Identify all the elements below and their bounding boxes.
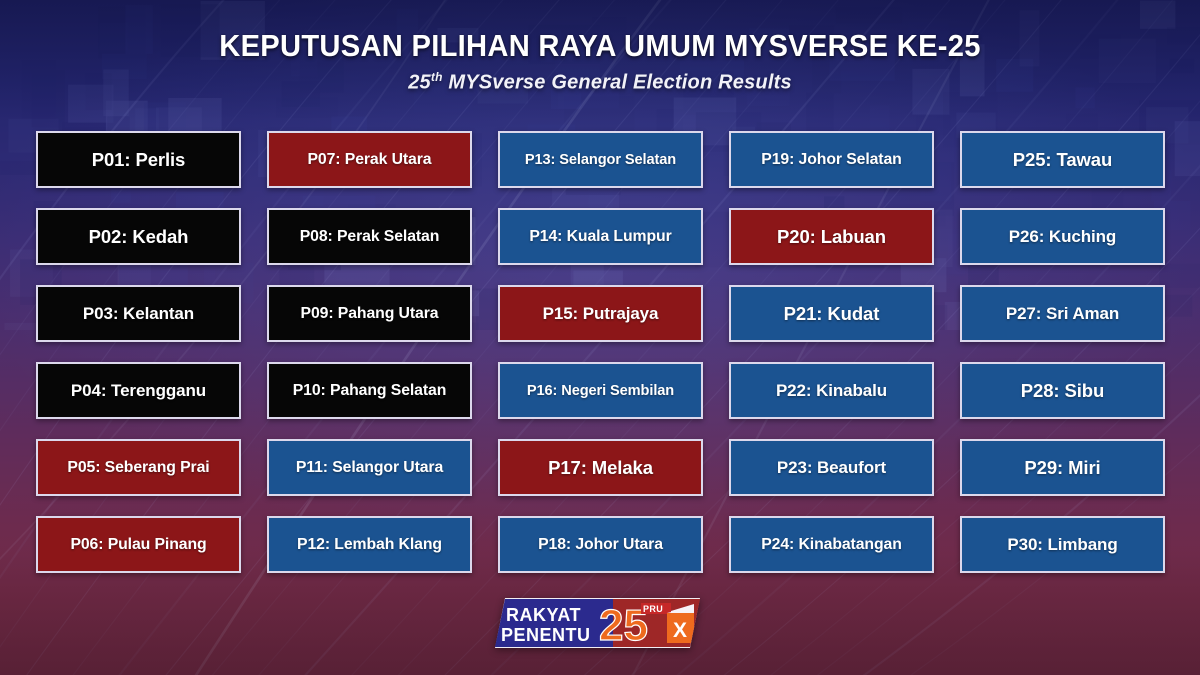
seat-box-p02[interactable]: P02: Kedah [36, 208, 241, 265]
seat-box-p29[interactable]: P29: Miri [960, 439, 1165, 496]
seat-box-p21[interactable]: P21: Kudat [729, 285, 934, 342]
logo-pru-badge-text: PRU [643, 604, 663, 614]
seat-label: P29: Miri [1018, 457, 1106, 479]
page-subtitle: 25th MYSverse General Election Results [0, 70, 1200, 95]
seat-label: P19: Johor Selatan [755, 151, 907, 169]
seat-box-p19[interactable]: P19: Johor Selatan [729, 131, 934, 188]
seat-label: P09: Pahang Utara [295, 305, 445, 323]
seat-label: P06: Pulau Pinang [64, 536, 212, 554]
seat-box-p25[interactable]: P25: Tawau [960, 131, 1165, 188]
seat-box-p13[interactable]: P13: Selangor Selatan [498, 131, 703, 188]
header: KEPUTUSAN PILIHAN RAYA UMUM MYSVERSE KE-… [0, 30, 1200, 94]
seat-label: P11: Selangor Utara [290, 459, 449, 477]
seat-box-p27[interactable]: P27: Sri Aman [960, 285, 1165, 342]
ballot-x-mark: X [673, 619, 687, 642]
seat-label: P21: Kudat [778, 303, 886, 325]
seat-label: P01: Perlis [86, 149, 192, 171]
seat-label: P22: Kinabalu [770, 381, 893, 401]
logo-line2: PENENTU [501, 625, 591, 645]
seat-box-p15[interactable]: P15: Putrajaya [498, 285, 703, 342]
seat-box-p20[interactable]: P20: Labuan [729, 208, 934, 265]
seat-box-p01[interactable]: P01: Perlis [36, 131, 241, 188]
seat-label: P03: Kelantan [77, 304, 200, 324]
seat-label: P26: Kuching [1003, 227, 1122, 247]
subtitle-text: MYSverse General Election Results [443, 71, 792, 93]
seat-results-grid: P01: PerlisP07: Perak UtaraP13: Selangor… [36, 131, 1166, 573]
seat-box-p16[interactable]: P16: Negeri Sembilan [498, 362, 703, 419]
seat-box-p12[interactable]: P12: Lembah Klang [267, 516, 472, 573]
logo-line1: RAKYAT [506, 605, 581, 625]
logo-25-outline: 25 [599, 601, 648, 649]
seat-label: P08: Perak Selatan [294, 228, 446, 246]
seat-box-p28[interactable]: P28: Sibu [960, 362, 1165, 419]
seat-label: P28: Sibu [1015, 380, 1110, 402]
seat-box-p30[interactable]: P30: Limbang [960, 516, 1165, 573]
subtitle-ordinal-suffix: th [431, 70, 443, 84]
seat-label: P23: Beaufort [771, 458, 892, 478]
seat-label: P18: Johor Utara [532, 536, 669, 554]
seat-box-p26[interactable]: P26: Kuching [960, 208, 1165, 265]
seat-box-p04[interactable]: P04: Terengganu [36, 362, 241, 419]
seat-box-p17[interactable]: P17: Melaka [498, 439, 703, 496]
seat-label: P13: Selangor Selatan [519, 152, 682, 168]
seat-box-p06[interactable]: P06: Pulau Pinang [36, 516, 241, 573]
seat-box-p14[interactable]: P14: Kuala Lumpur [498, 208, 703, 265]
page-title: KEPUTUSAN PILIHAN RAYA UMUM MYSVERSE KE-… [36, 30, 1164, 63]
seat-box-p11[interactable]: P11: Selangor Utara [267, 439, 472, 496]
pru25-logo: 25 25 RAKYAT PENENTU PRU X [495, 597, 700, 649]
seat-label: P20: Labuan [771, 226, 892, 248]
seat-box-p10[interactable]: P10: Pahang Selatan [267, 362, 472, 419]
seat-box-p08[interactable]: P08: Perak Selatan [267, 208, 472, 265]
seat-box-p03[interactable]: P03: Kelantan [36, 285, 241, 342]
seat-label: P17: Melaka [542, 457, 659, 479]
seat-label: P10: Pahang Selatan [287, 382, 453, 400]
seat-label: P12: Lembah Klang [291, 536, 448, 554]
seat-label: P16: Negeri Sembilan [521, 383, 680, 399]
seat-label: P27: Sri Aman [1000, 304, 1125, 324]
seat-label: P04: Terengganu [65, 381, 212, 401]
seat-box-p09[interactable]: P09: Pahang Utara [267, 285, 472, 342]
seat-box-p23[interactable]: P23: Beaufort [729, 439, 934, 496]
seat-box-p18[interactable]: P18: Johor Utara [498, 516, 703, 573]
seat-label: P15: Putrajaya [537, 304, 665, 324]
seat-label: P02: Kedah [83, 226, 195, 248]
seat-box-p05[interactable]: P05: Seberang Prai [36, 439, 241, 496]
seat-label: P05: Seberang Prai [61, 459, 215, 477]
seat-label: P25: Tawau [1007, 149, 1118, 171]
seat-box-p22[interactable]: P22: Kinabalu [729, 362, 934, 419]
subtitle-number: 25 [408, 71, 431, 93]
seat-box-p24[interactable]: P24: Kinabatangan [729, 516, 934, 573]
seat-label: P24: Kinabatangan [755, 536, 908, 554]
seat-label: P14: Kuala Lumpur [523, 228, 677, 246]
seat-label: P30: Limbang [1001, 535, 1123, 555]
seat-box-p07[interactable]: P07: Perak Utara [267, 131, 472, 188]
seat-label: P07: Perak Utara [302, 151, 438, 169]
